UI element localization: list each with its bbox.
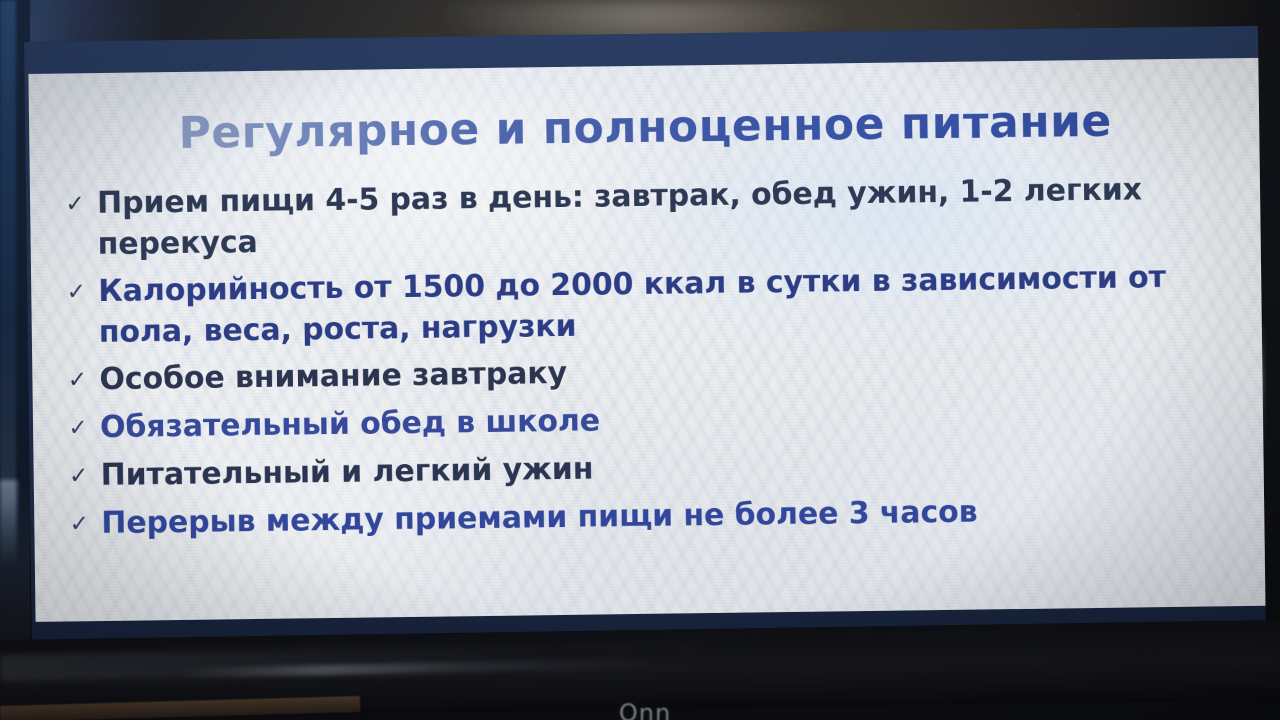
checkmark-icon: ✓ bbox=[67, 455, 90, 497]
checkmark-icon: ✓ bbox=[67, 407, 90, 449]
monitor-screen: Регулярное и полноценное питание ✓ Прием… bbox=[24, 26, 1266, 648]
bullet-item: ✓ Обязательный обед в школе bbox=[67, 392, 1247, 449]
brand-logo-text: Onn bbox=[560, 701, 730, 720]
bullet-item: ✓ Питательный и легкий ужин bbox=[67, 440, 1247, 497]
slide-title: Регулярное и полноценное питание bbox=[29, 94, 1262, 162]
checkmark-icon: ✓ bbox=[68, 503, 91, 545]
bullet-text: Калорийность от 1500 до 2000 ккал в сутк… bbox=[98, 256, 1246, 353]
bezel-window-reflection bbox=[0, 480, 17, 566]
bullet-item: ✓ Перерыв между приемами пищи не более 3… bbox=[68, 488, 1248, 545]
checkmark-icon: ✓ bbox=[66, 359, 89, 401]
monitor-brand-logo: Onn bbox=[560, 701, 730, 720]
bullet-text: Особое внимание завтраку bbox=[99, 353, 567, 400]
checkmark-icon: ✓ bbox=[65, 271, 88, 313]
bullet-item: ✓ Особое внимание завтраку bbox=[66, 344, 1246, 401]
bullet-text: Обязательный обед в школе bbox=[100, 400, 601, 448]
checkmark-icon: ✓ bbox=[64, 183, 87, 225]
presentation-slide: Регулярное и полноценное питание ✓ Прием… bbox=[28, 58, 1265, 622]
bullet-item: ✓ Прием пищи 4-5 раз в день: завтрак, об… bbox=[64, 168, 1245, 265]
bullet-text: Прием пищи 4-5 раз в день: завтрак, обед… bbox=[97, 168, 1245, 265]
monitor-photo: Регулярное и полноценное питание ✓ Прием… bbox=[0, 0, 1280, 720]
bullet-item: ✓ Калорийность от 1500 до 2000 ккал в су… bbox=[65, 256, 1246, 353]
bullet-text: Питательный и легкий ужин bbox=[100, 449, 593, 496]
bullet-list: ✓ Прием пищи 4-5 раз в день: завтрак, об… bbox=[64, 168, 1249, 551]
bezel-reflection bbox=[0, 0, 16, 560]
bullet-text: Перерыв между приемами пищи не более 3 ч… bbox=[101, 492, 978, 544]
